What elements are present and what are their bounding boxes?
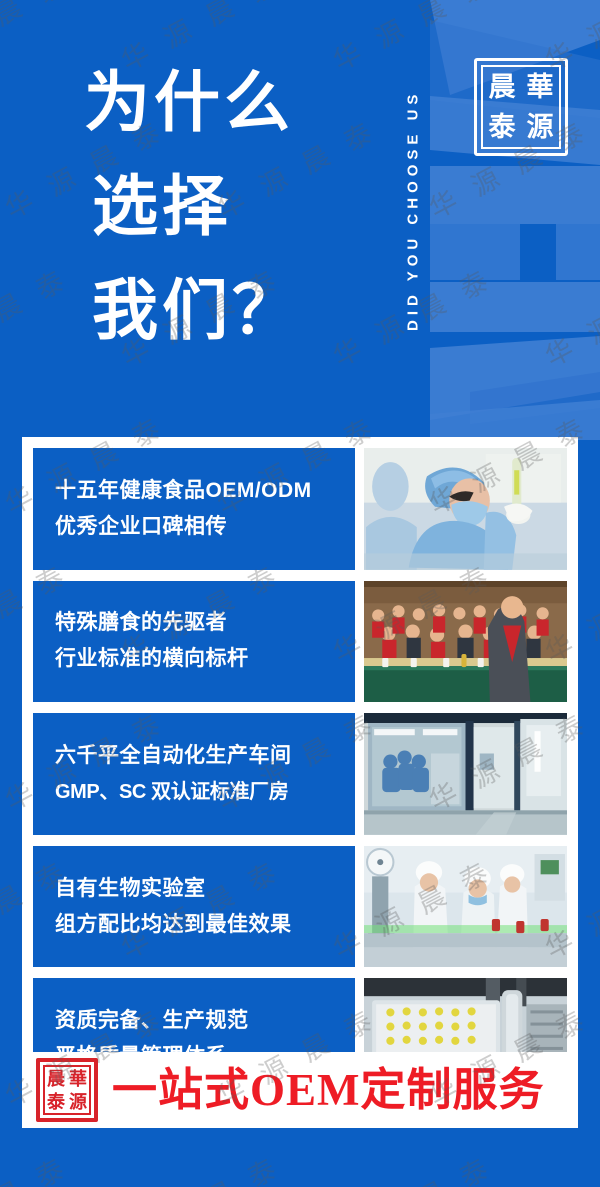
page-title: 为什么 选择 我们？ <box>84 52 404 364</box>
feature-card-text: 特殊膳食的先驱者 行业标准的横向标杆 <box>33 581 355 703</box>
brand-seal-red: 華 源 晨 泰 <box>36 1058 98 1122</box>
feature-card-photo-conference <box>364 581 567 703</box>
feature-card-panel: 十五年健康食品OEM/ODM 优秀企业口碑相传 <box>22 437 578 1111</box>
brand-seal-inner: 華 源 晨 泰 <box>481 65 561 149</box>
seal-red-char-yuan: 源 <box>67 1090 89 1113</box>
feature-card: 十五年健康食品OEM/ODM 优秀企业口碑相传 <box>33 448 567 570</box>
feature-card-line-1: 十五年健康食品OEM/ODM <box>55 473 355 509</box>
seal-red-char-hua: 華 <box>67 1067 89 1090</box>
feature-card-text: 六千平全自动化生产车间 GMP、SC 双认证标准厂房 <box>33 713 355 835</box>
feature-card-line-2: 组方配比均达到最佳效果 <box>55 907 355 943</box>
header-section: 为什么 选择 我们？ DID YOU CHOOSE US 華 源 晨 泰 <box>0 0 600 437</box>
seal-red-char-chen: 晨 <box>45 1067 67 1090</box>
poster-root: 为什么 选择 我们？ DID YOU CHOOSE US 華 源 晨 泰 十五年… <box>0 0 600 1187</box>
feature-card: 自有生物实验室 组方配比均达到最佳效果 <box>33 846 567 968</box>
feature-card-photo-cleanroom <box>364 713 567 835</box>
headline-line-2: 选择 <box>84 156 404 260</box>
seal-char-tai: 泰 <box>483 107 521 147</box>
feature-card-line-1: 特殊膳食的先驱者 <box>55 605 355 641</box>
feature-card-line-2: 行业标准的横向标杆 <box>55 641 355 677</box>
feature-card-line-2: GMP、SC 双认证标准厂房 <box>55 774 355 810</box>
feature-card-text: 自有生物实验室 组方配比均达到最佳效果 <box>33 846 355 968</box>
feature-card-photo-lab-technician <box>364 448 567 570</box>
headline-line-3: 我们？ <box>84 260 404 364</box>
feature-card-line-2: 优秀企业口碑相传 <box>55 509 355 545</box>
brand-seal-white: 華 源 晨 泰 <box>474 58 568 156</box>
feature-card-photo-production-line <box>364 846 567 968</box>
brand-seal-red-inner: 華 源 晨 泰 <box>43 1065 91 1115</box>
footer-strip <box>0 1128 600 1187</box>
feature-card-line-1: 资质完备、生产规范 <box>55 1003 355 1039</box>
feature-card: 六千平全自动化生产车间 GMP、SC 双认证标准厂房 <box>33 713 567 835</box>
seal-char-hua: 華 <box>521 67 559 107</box>
seal-char-chen: 晨 <box>483 67 521 107</box>
seal-char-yuan: 源 <box>521 107 559 147</box>
feature-card-list: 十五年健康食品OEM/ODM 优秀企业口碑相传 <box>33 448 567 1100</box>
seal-red-char-tai: 泰 <box>45 1090 67 1113</box>
cta-banner: 華 源 晨 泰 一站式OEM定制服务 <box>22 1052 578 1128</box>
feature-card-text: 十五年健康食品OEM/ODM 优秀企业口碑相传 <box>33 448 355 570</box>
cta-banner-text: 一站式OEM定制服务 <box>112 1068 545 1113</box>
feature-card: 特殊膳食的先驱者 行业标准的横向标杆 <box>33 581 567 703</box>
vertical-english-tagline: DID YOU CHOOSE US <box>398 20 428 400</box>
feature-card-line-1: 六千平全自动化生产车间 <box>55 738 355 774</box>
feature-card-line-1: 自有生物实验室 <box>55 871 355 907</box>
headline-line-1: 为什么 <box>84 52 404 156</box>
